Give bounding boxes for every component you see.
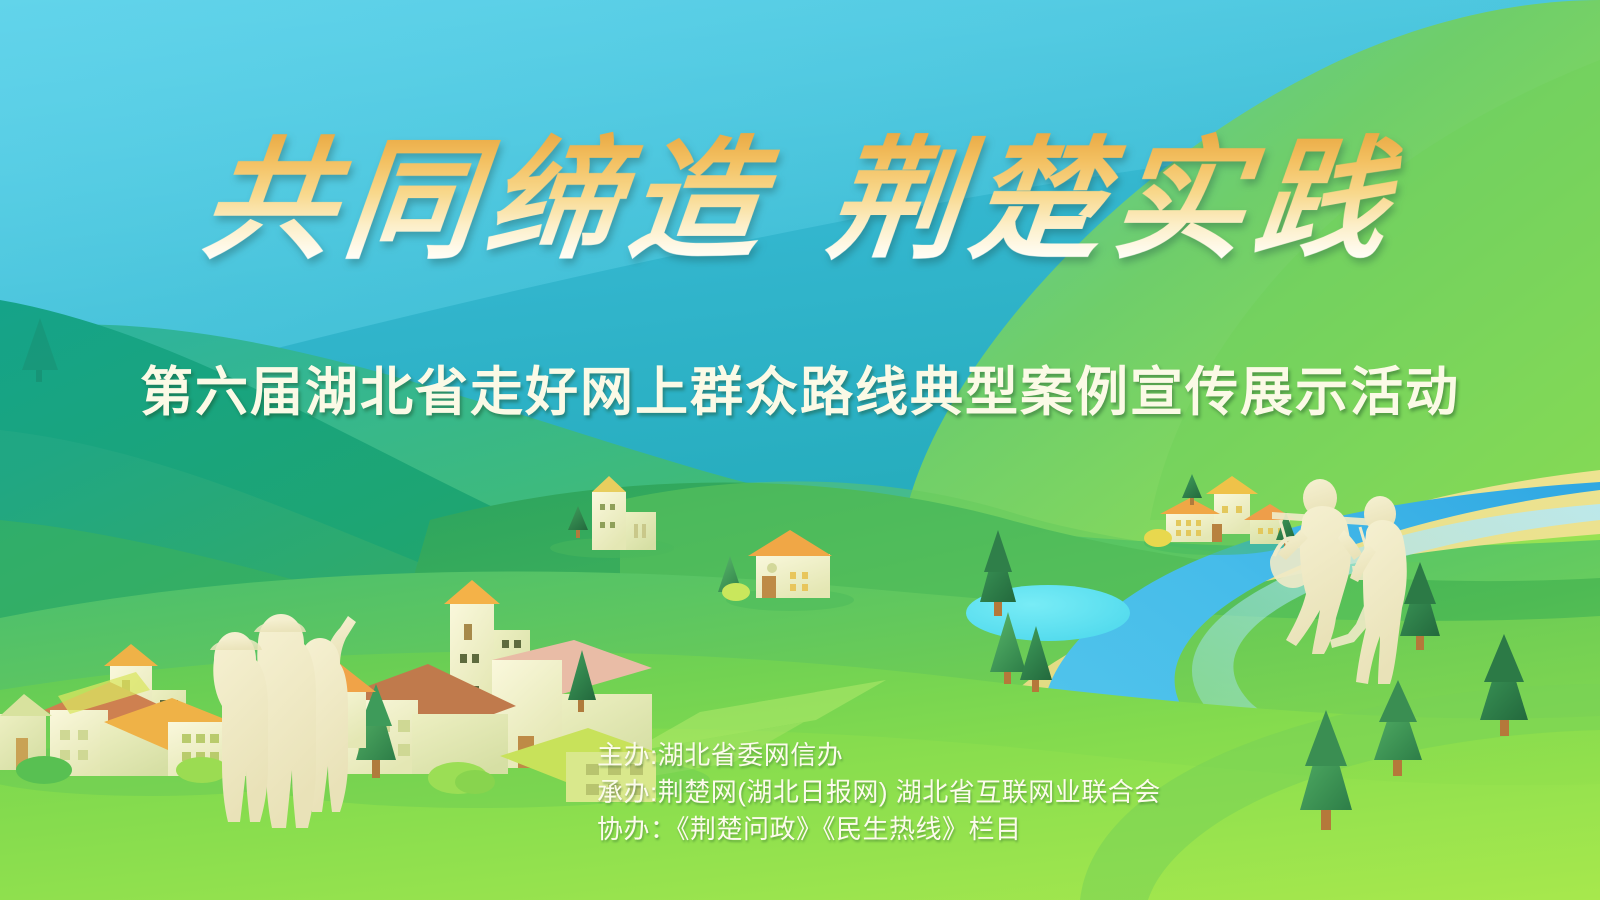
figures-villagers-group <box>210 614 356 828</box>
landscape-illustration <box>0 0 1600 900</box>
poster-canvas: 共同缔造荆楚实践 第六届湖北省走好网上群众路线典型案例宣传展示活动 主办:湖北省… <box>0 0 1600 900</box>
